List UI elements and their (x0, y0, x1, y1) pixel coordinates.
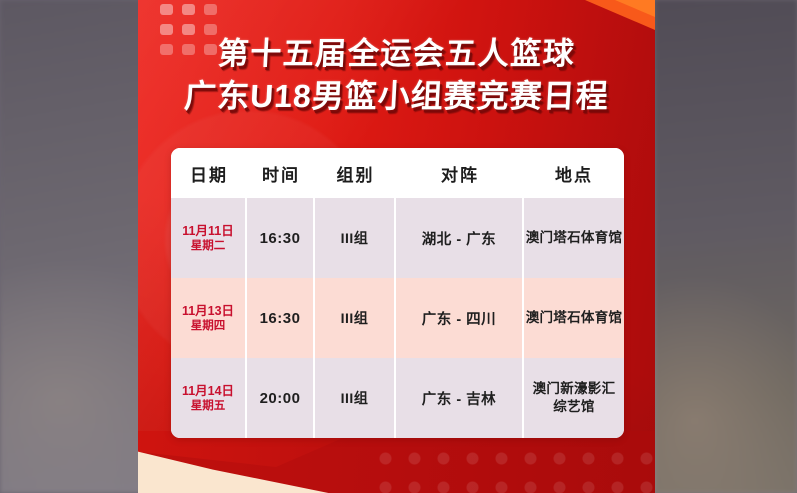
venue-value: 澳门塔石体育馆 (526, 309, 623, 327)
cell-group: III组 (315, 358, 396, 438)
time-value: 16:30 (260, 310, 301, 327)
venue-value-line-2: 综艺馆 (553, 398, 594, 416)
cell-time: 16:30 (247, 278, 315, 358)
time-value: 16:30 (260, 230, 301, 247)
column-header-match: 对阵 (396, 148, 524, 198)
venue-value: 澳门塔石体育馆 (526, 229, 623, 247)
date-weekday: 星期二 (191, 239, 226, 254)
cell-match: 广东 - 吉林 (396, 358, 524, 438)
corner-triangle-inner-icon (615, 0, 655, 17)
cell-time: 20:00 (247, 358, 315, 438)
date-weekday: 星期四 (191, 319, 226, 334)
date-main: 11月14日 (182, 383, 234, 399)
cell-group: III组 (315, 278, 396, 358)
poster-card: 第十五届全运会五人篮球 广东U18男篮小组赛竞赛日程 日期 时间 组别 对阵 地… (138, 0, 655, 493)
title-line-2: 广东U18男篮小组赛竞赛日程 (138, 75, 655, 117)
table-row: 11月13日 星期四 16:30 III组 广东 - 四川 澳门塔石体育馆 (171, 278, 624, 358)
cell-match: 湖北 - 广东 (396, 198, 524, 278)
bottom-decoration-band (138, 431, 655, 493)
column-header-date: 日期 (171, 148, 247, 198)
match-value: 广东 - 吉林 (422, 388, 496, 409)
schedule-table: 日期 时间 组别 对阵 地点 11月11日 星期二 16:30 III组 湖北 (171, 148, 624, 438)
cell-date: 11月14日 星期五 (171, 358, 247, 438)
cell-date: 11月13日 星期四 (171, 278, 247, 358)
date-main: 11月13日 (182, 303, 234, 319)
column-header-group: 组别 (315, 148, 396, 198)
table-row: 11月14日 星期五 20:00 III组 广东 - 吉林 澳门新濠影汇 综艺馆 (171, 358, 624, 438)
dot-pattern-icon (365, 441, 655, 493)
table-header-row: 日期 时间 组别 对阵 地点 (171, 148, 624, 198)
venue-value: 澳门新濠影汇 (533, 380, 616, 398)
match-value: 湖北 - 广东 (422, 228, 496, 249)
time-value: 20:00 (260, 390, 301, 407)
screenshot-canvas: 第十五届全运会五人篮球 广东U18男篮小组赛竞赛日程 日期 时间 组别 对阵 地… (0, 0, 797, 493)
table-row: 11月11日 星期二 16:30 III组 湖北 - 广东 澳门塔石体育馆 (171, 198, 624, 278)
cell-match: 广东 - 四川 (396, 278, 524, 358)
match-value: 广东 - 四川 (422, 308, 496, 329)
title-line-1: 第十五届全运会五人篮球 (138, 33, 655, 75)
cell-venue: 澳门塔石体育馆 (524, 278, 624, 358)
group-value: III组 (341, 308, 369, 328)
poster-title: 第十五届全运会五人篮球 广东U18男篮小组赛竞赛日程 (138, 33, 655, 117)
cell-venue: 澳门新濠影汇 综艺馆 (524, 358, 624, 438)
background-blur-right (655, 0, 797, 493)
column-header-time: 时间 (247, 148, 315, 198)
cell-date: 11月11日 星期二 (171, 198, 247, 278)
cell-venue: 澳门塔石体育馆 (524, 198, 624, 278)
group-value: III组 (341, 228, 369, 248)
cell-group: III组 (315, 198, 396, 278)
date-weekday: 星期五 (191, 399, 226, 414)
column-header-venue: 地点 (524, 148, 624, 198)
group-value: III组 (341, 388, 369, 408)
cell-time: 16:30 (247, 198, 315, 278)
date-main: 11月11日 (182, 223, 233, 239)
